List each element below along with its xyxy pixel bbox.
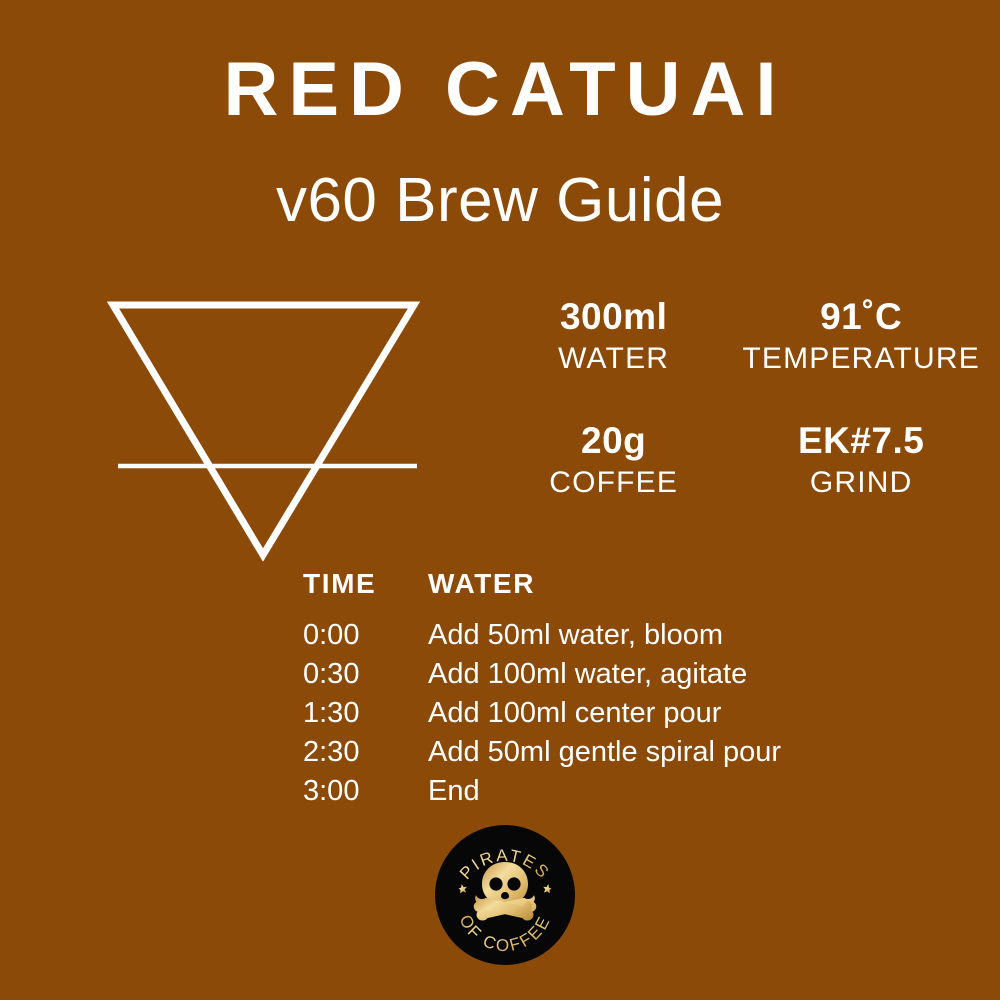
row-water: End bbox=[428, 772, 863, 811]
column-header-time: TIME bbox=[303, 570, 428, 598]
row-time: 0:00 bbox=[303, 616, 428, 655]
stat-temperature-value: 91˚C bbox=[742, 298, 980, 335]
stat-grind-value: EK#7.5 bbox=[742, 422, 980, 459]
page-subtitle: v60 Brew Guide bbox=[0, 170, 1000, 232]
schedule-header-row: TIME WATER bbox=[303, 570, 863, 598]
stat-water: 300ml WATER bbox=[495, 298, 732, 374]
brew-stats-grid: 300ml WATER 91˚C TEMPERATURE 20g COFFEE … bbox=[495, 298, 980, 498]
row-water: Add 50ml water, bloom bbox=[428, 616, 863, 655]
brew-schedule-table: TIME WATER 0:00 Add 50ml water, bloom 0:… bbox=[303, 570, 863, 811]
table-row: 0:30 Add 100ml water, agitate bbox=[303, 655, 863, 694]
stat-temperature: 91˚C TEMPERATURE bbox=[742, 298, 980, 374]
row-time: 0:30 bbox=[303, 655, 428, 694]
stat-coffee: 20g COFFEE bbox=[495, 422, 732, 498]
stat-grind-label: GRIND bbox=[742, 468, 980, 498]
stat-water-value: 300ml bbox=[495, 298, 732, 335]
table-row: 1:30 Add 100ml center pour bbox=[303, 694, 863, 733]
pirates-of-coffee-logo: PIRATES OF COFFEE bbox=[435, 825, 575, 965]
row-water: Add 100ml center pour bbox=[428, 694, 863, 733]
row-water: Add 50ml gentle spiral pour bbox=[428, 733, 863, 772]
row-time: 1:30 bbox=[303, 694, 428, 733]
stat-coffee-value: 20g bbox=[495, 422, 732, 459]
stat-water-label: WATER bbox=[495, 344, 732, 374]
dripper-cone-outline bbox=[113, 305, 414, 555]
table-row: 2:30 Add 50ml gentle spiral pour bbox=[303, 733, 863, 772]
table-row: 0:00 Add 50ml water, bloom bbox=[303, 616, 863, 655]
stat-temperature-label: TEMPERATURE bbox=[742, 344, 980, 374]
row-water: Add 100ml water, agitate bbox=[428, 655, 863, 694]
table-row: 3:00 End bbox=[303, 772, 863, 811]
v60-dripper-icon bbox=[100, 290, 430, 580]
brew-guide-poster: RED CATUAI v60 Brew Guide 300ml WATER 91… bbox=[0, 0, 1000, 1000]
stat-coffee-label: COFFEE bbox=[495, 468, 732, 498]
row-time: 3:00 bbox=[303, 772, 428, 811]
page-title: RED CATUAI bbox=[0, 52, 1000, 128]
stat-grind: EK#7.5 GRIND bbox=[742, 422, 980, 498]
column-header-water: WATER bbox=[428, 570, 863, 598]
row-time: 2:30 bbox=[303, 733, 428, 772]
